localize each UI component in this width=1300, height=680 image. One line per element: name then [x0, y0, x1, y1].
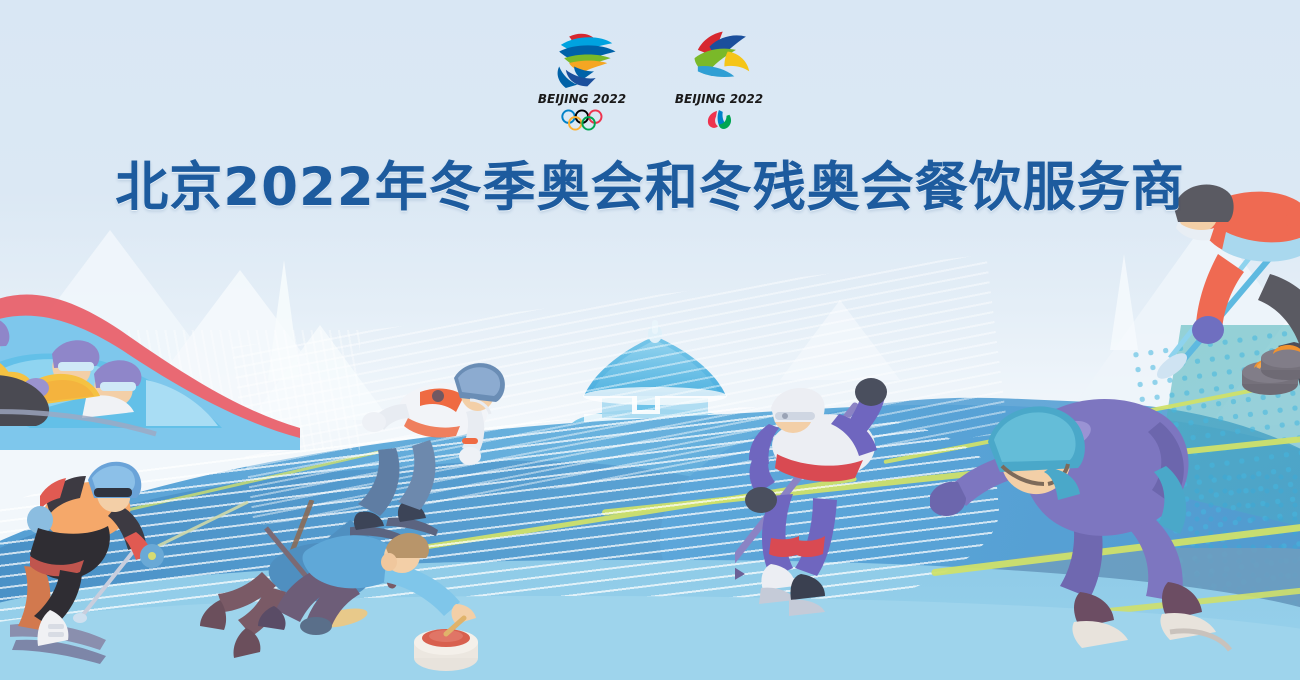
olympic-rings-icon — [558, 109, 606, 131]
beijing-2022-olympic-emblem: BEIJING 2022 — [534, 30, 629, 131]
speed-skater-large — [930, 370, 1260, 670]
paralympic-wordmark: BEIJING 2022 — [667, 91, 771, 107]
beijing-2022-paralympic-emblem: BEIJING 2022 — [671, 30, 766, 131]
paralympic-agitos-icon — [695, 109, 743, 131]
olympic-wordmark: BEIJING 2022 — [530, 91, 634, 107]
paralympic-wordmark-text: BEIJING 2022 — [674, 92, 762, 106]
winter-dream-mark — [536, 30, 627, 88]
olympic-wordmark-text: BEIJING 2022 — [537, 92, 625, 106]
flight-mark — [673, 30, 764, 88]
curling-stone-orange — [1255, 330, 1300, 390]
emblem-row: BEIJING 2022 BEI — [0, 30, 1300, 131]
page-title: 北京2022年冬季奥会和冬残奥会餐饮服务商 — [0, 145, 1300, 221]
ice-hockey-player — [735, 378, 945, 618]
olympic-banner: BEIJING 2022 BEI — [0, 0, 1300, 680]
curler-delivery — [250, 518, 520, 678]
